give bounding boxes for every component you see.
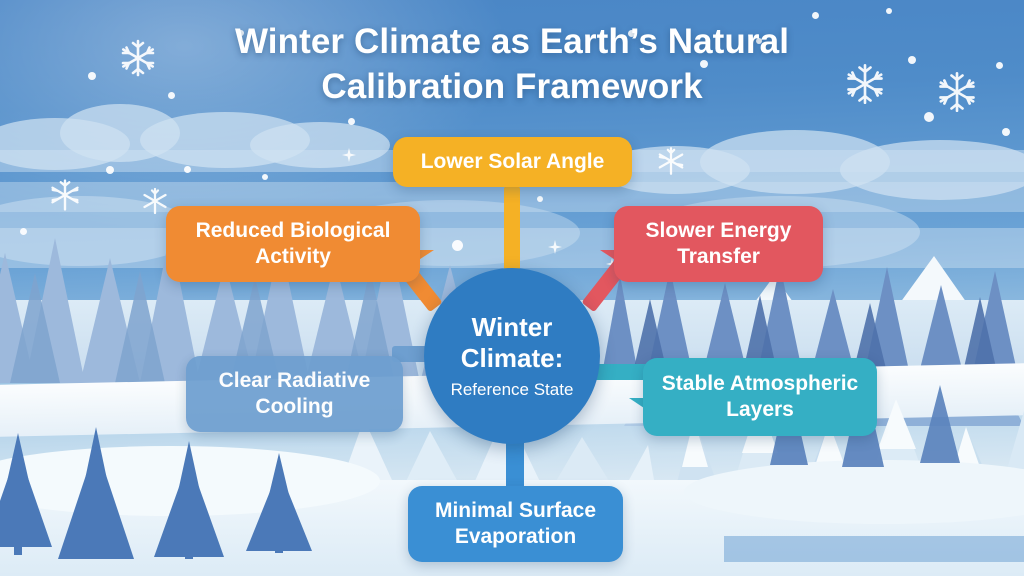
node-reduced-biological-activity[interactable]: Reduced Biological Activity xyxy=(166,206,420,282)
node-clear-radiative-cooling[interactable]: Clear Radiative Cooling xyxy=(186,356,403,432)
hub-and-spoke-diagram: Winter Climate: Reference State Lower So… xyxy=(0,0,1024,576)
infographic-canvas: Winter Climate as Earth’s Natural Calibr… xyxy=(0,0,1024,576)
hub-title-line-1: Winter xyxy=(472,312,553,342)
node-lower-solar-angle[interactable]: Lower Solar Angle xyxy=(393,137,632,187)
hub-node-winter-climate[interactable]: Winter Climate: Reference State xyxy=(424,268,600,444)
hub-title-line-2: Climate: xyxy=(461,343,564,373)
node-stable-atmospheric-layers[interactable]: Stable Atmospheric Layers xyxy=(643,358,877,436)
hub-subtitle: Reference State xyxy=(451,380,574,400)
node-slower-energy-transfer[interactable]: Slower Energy Transfer xyxy=(614,206,823,282)
node-minimal-surface-evaporation[interactable]: Minimal Surface Evaporation xyxy=(408,486,623,562)
